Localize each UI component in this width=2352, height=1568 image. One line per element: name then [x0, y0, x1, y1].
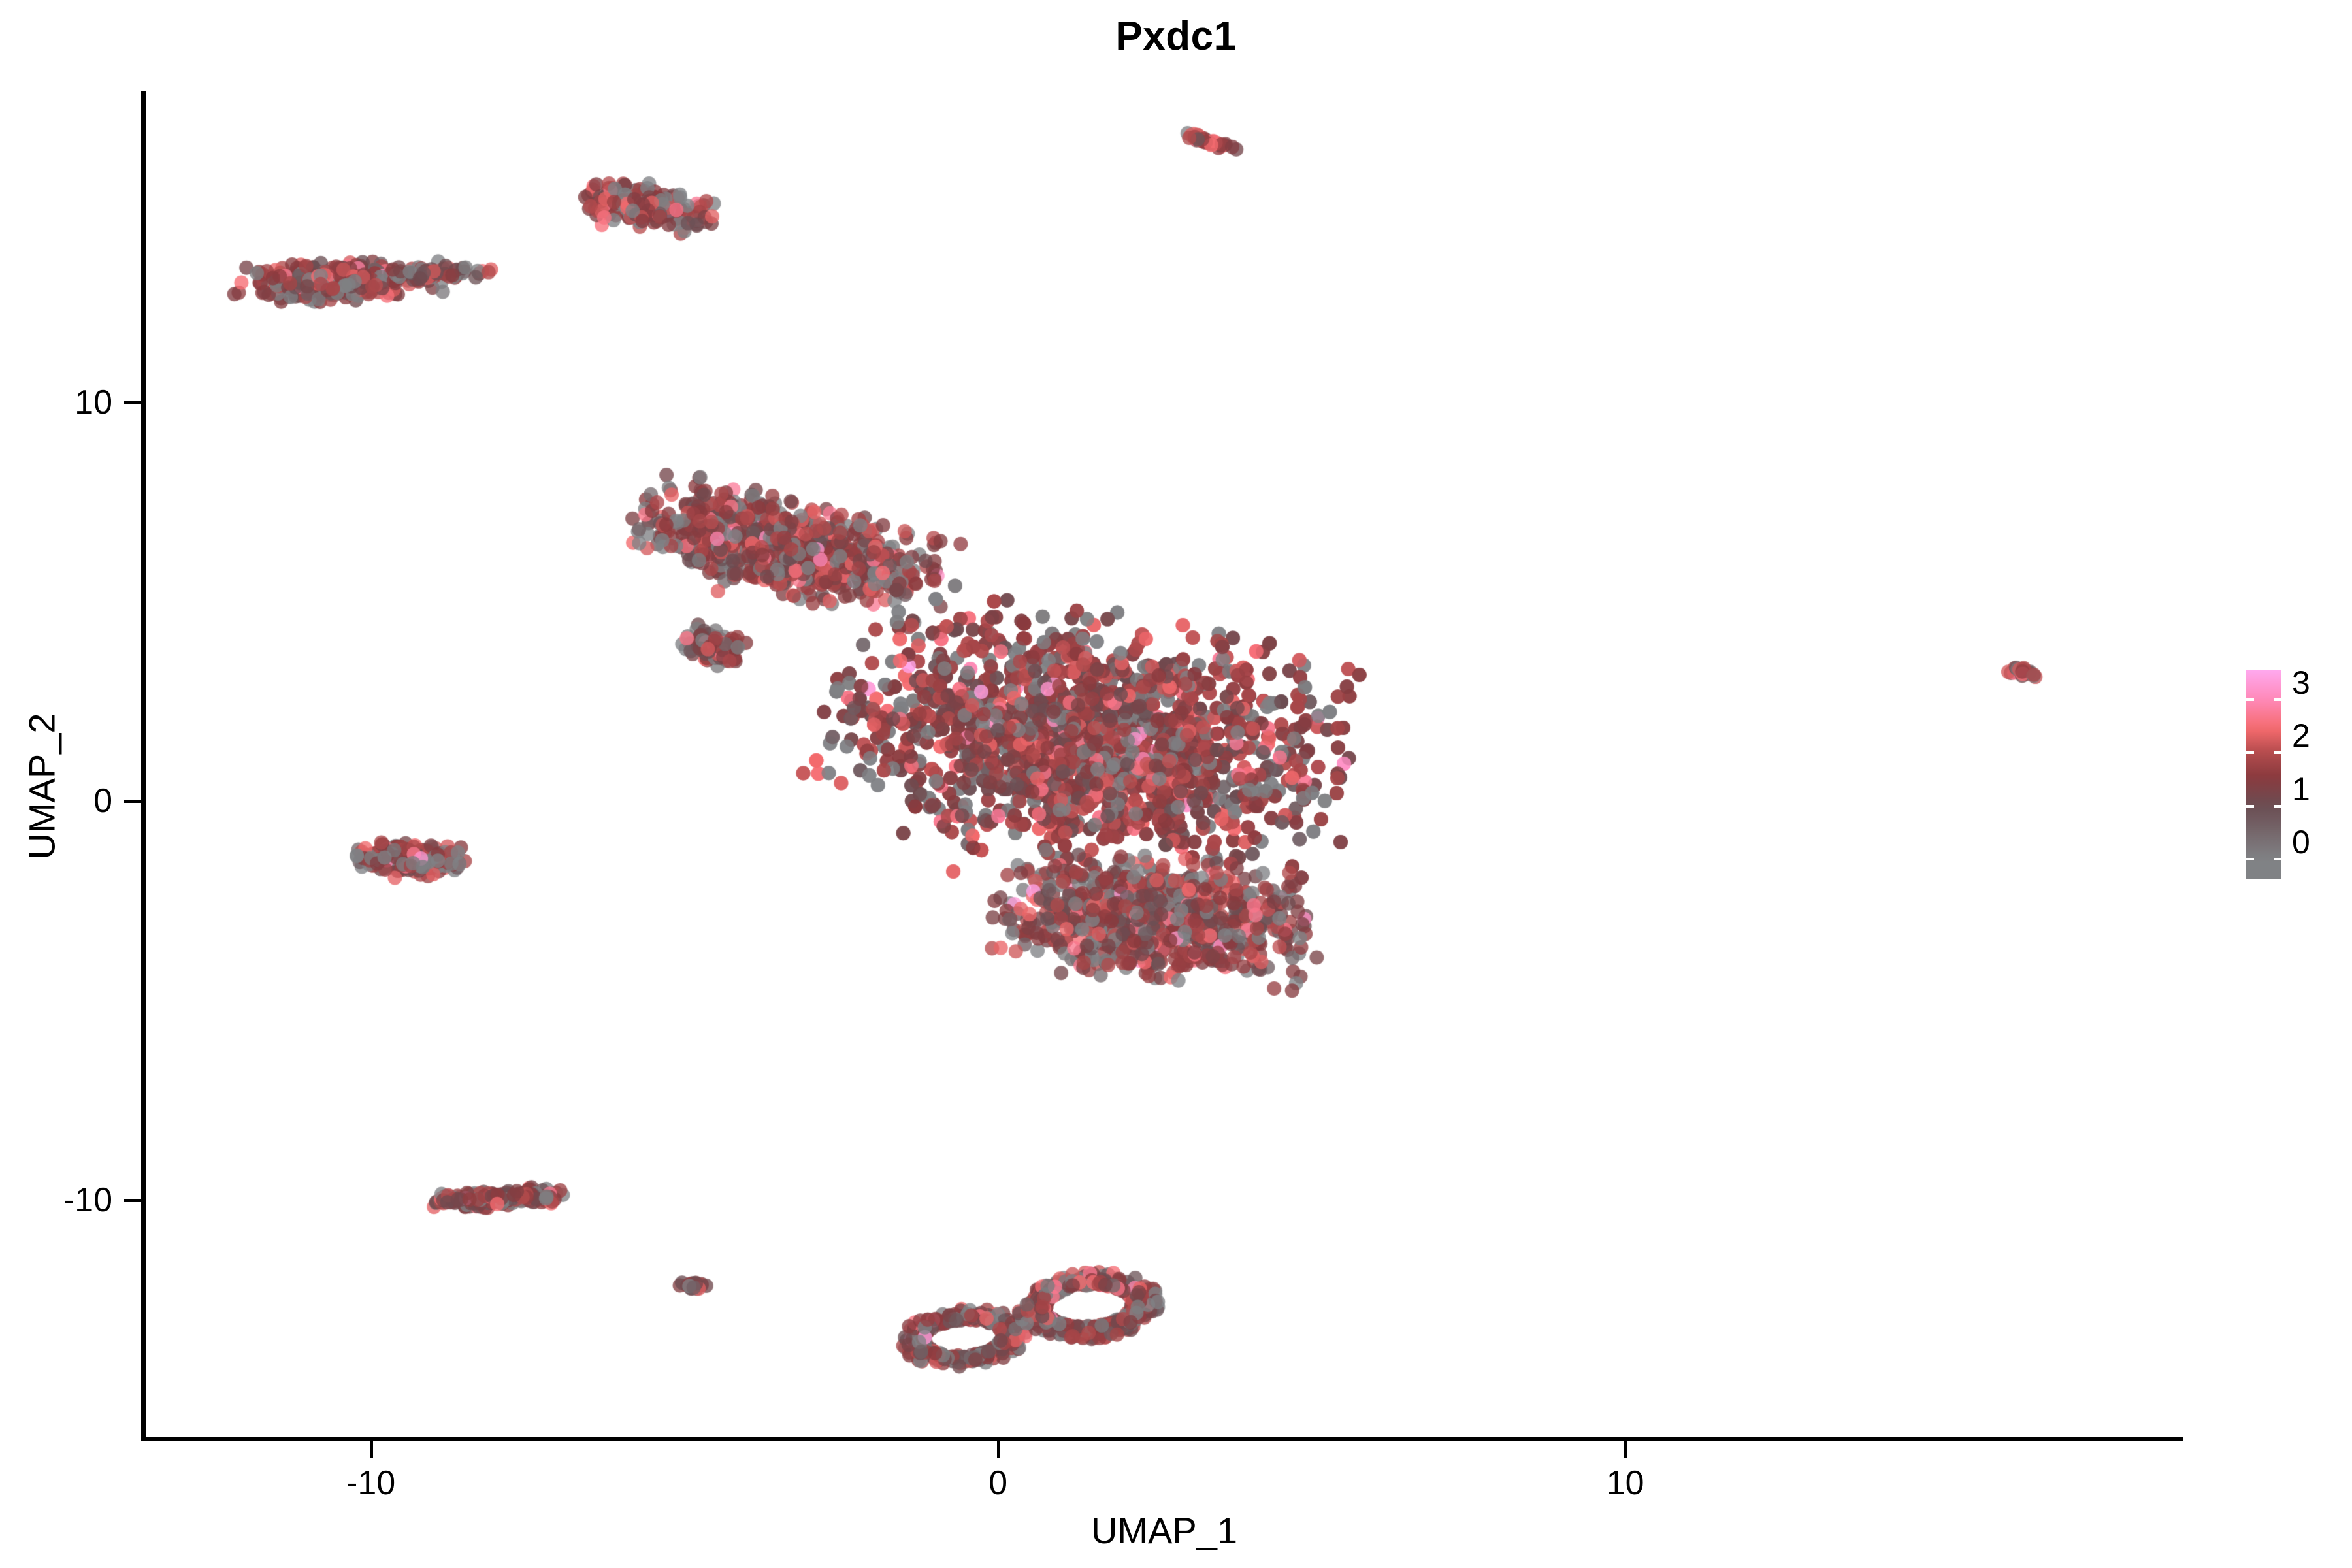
x-axis-line — [141, 1437, 2183, 1441]
page-title: Pxdc1 — [0, 13, 2352, 59]
colorbar-tick-seg — [2274, 805, 2281, 808]
colorbar-tick-seg — [2246, 698, 2254, 701]
colorbar-tick-seg — [2246, 751, 2254, 754]
colorbar-tick-seg — [2246, 805, 2254, 808]
colorbar-legend: 0123 — [2246, 670, 2344, 886]
x-tick-label: 0 — [988, 1463, 1007, 1503]
x-tick-mark — [997, 1441, 1000, 1458]
y-axis-title: UMAP_2 — [21, 656, 63, 917]
colorbar-tick-seg — [2274, 698, 2281, 701]
y-tick-mark — [124, 800, 141, 803]
y-tick-label: 10 — [74, 383, 112, 422]
chart-page: Pxdc1 -10010 -10010 UMAP_1 UMAP_2 0123 — [0, 0, 2352, 1568]
colorbar-tick-label: 2 — [2292, 717, 2310, 755]
x-tick-mark — [370, 1441, 373, 1458]
y-tick-mark — [124, 1199, 141, 1202]
colorbar-tick-mark — [2246, 698, 2281, 701]
colorbar-tick-mark — [2246, 805, 2281, 808]
scatter-plot-canvas — [145, 91, 2183, 1439]
plot-panel — [145, 91, 2183, 1439]
colorbar-tick-mark — [2246, 751, 2281, 754]
colorbar-tick-label: 3 — [2292, 664, 2310, 702]
colorbar-tick-label: 1 — [2292, 770, 2310, 808]
y-axis-line — [141, 91, 146, 1441]
x-tick-label: 10 — [1607, 1463, 1644, 1503]
colorbar-tick-label: 0 — [2292, 823, 2310, 861]
y-tick-label: -10 — [63, 1181, 112, 1220]
colorbar-tick-mark — [2246, 858, 2281, 860]
x-axis-title: UMAP_1 — [145, 1509, 2183, 1552]
x-tick-label: -10 — [346, 1463, 395, 1503]
y-tick-label: 0 — [93, 781, 112, 821]
x-tick-mark — [1624, 1441, 1627, 1458]
colorbar-gradient — [2246, 670, 2281, 879]
colorbar-tick-seg — [2274, 751, 2281, 754]
colorbar-tick-seg — [2274, 858, 2281, 860]
colorbar-tick-seg — [2246, 858, 2254, 860]
y-tick-mark — [124, 401, 141, 404]
